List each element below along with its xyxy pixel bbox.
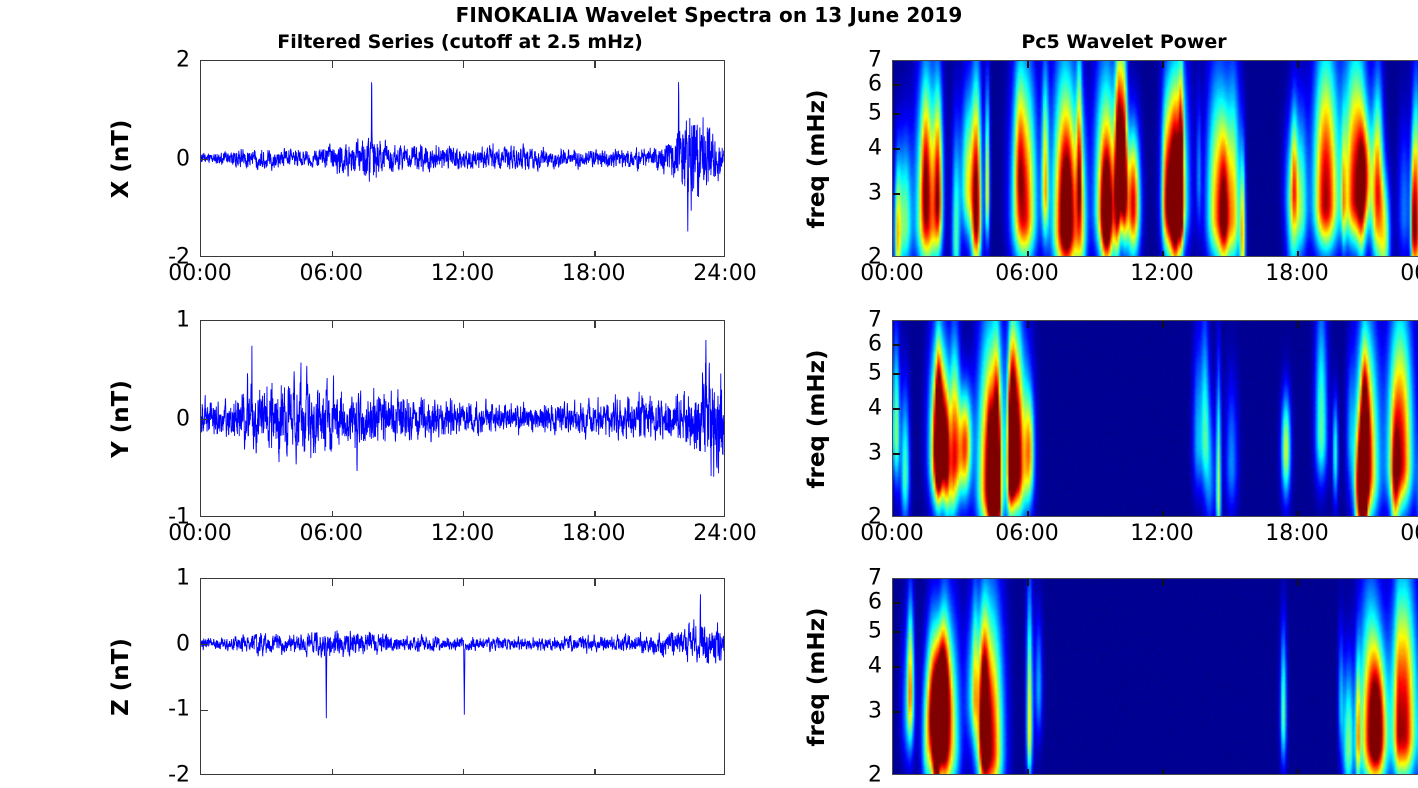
ttick-label-y-0: 00:00 — [860, 521, 923, 546]
xtick-y-18 — [594, 511, 596, 517]
ylabel-z-series: Z (nT) — [108, 638, 134, 716]
ttick-label-y-3: 18:00 — [1265, 521, 1328, 546]
ytick-label-x-2: 2 — [140, 48, 190, 73]
ylabel-y-series: Y (nT) — [108, 380, 134, 458]
ftick-y-5 — [893, 373, 900, 375]
ttick-x-12 — [1162, 251, 1164, 257]
ytick-label-y-1: 1 — [140, 308, 190, 333]
ytick-label-z--1: -1 — [140, 697, 190, 722]
ylabel-z-spectrogram: freq (mHz) — [804, 607, 830, 746]
ftick-x-4 — [893, 148, 900, 150]
xtick-z-12 — [463, 769, 465, 775]
ftick-label-y-6: 6 — [834, 332, 882, 357]
ftick-label-z-4: 4 — [834, 654, 882, 679]
xtick-x-18 — [594, 251, 596, 257]
axes-x-spectrogram — [892, 60, 1418, 257]
xtick-label-y-0: 00:00 — [168, 521, 231, 546]
ytick-z--1 — [201, 710, 208, 712]
axes-x-series — [200, 60, 725, 257]
ftick-z-3 — [893, 711, 900, 713]
ftick-label-x-7: 7 — [834, 48, 882, 73]
xtick-top-z-18 — [594, 579, 596, 586]
ftick-label-z-5: 5 — [834, 618, 882, 643]
xtick-z-18 — [594, 769, 596, 775]
figure-canvas: FINOKALIA Wavelet Spectra on 13 June 201… — [0, 0, 1418, 788]
ttick-top-z-6 — [1027, 579, 1029, 586]
xtick-label-x-0: 00:00 — [168, 261, 231, 286]
xtick-y-12 — [463, 511, 465, 517]
ftick-label-x-5: 5 — [834, 100, 882, 125]
ftick-y-3 — [893, 453, 900, 455]
axes-y-spectrogram — [892, 320, 1418, 517]
xtick-top-y-12 — [463, 321, 465, 328]
ftick-label-z-3: 3 — [834, 699, 882, 724]
ytick-label-z-0: 0 — [140, 631, 190, 656]
ftick-y-4 — [893, 408, 900, 410]
ttick-label-x-0: 00:00 — [860, 261, 923, 286]
ttick-label-x-4: 00:00 — [1400, 261, 1418, 286]
ftick-x-6 — [893, 84, 900, 86]
ttick-top-z-18 — [1297, 579, 1299, 586]
xtick-label-x-4: 24:00 — [693, 261, 756, 286]
timeseries-trace-z — [201, 579, 724, 774]
ftick-x-5 — [893, 113, 900, 115]
xtick-x-6 — [332, 251, 334, 257]
ttick-z-18 — [1297, 769, 1299, 775]
ttick-label-y-1: 06:00 — [995, 521, 1058, 546]
ftick-label-x-3: 3 — [834, 181, 882, 206]
xtick-x-12 — [463, 251, 465, 257]
timeseries-trace-x — [201, 61, 724, 256]
xtick-label-x-1: 06:00 — [300, 261, 363, 286]
ttick-label-x-3: 18:00 — [1265, 261, 1328, 286]
xtick-top-z-12 — [463, 579, 465, 586]
ytick-label-x-0: 0 — [140, 146, 190, 171]
ftick-z-6 — [893, 602, 900, 604]
ttick-top-y-12 — [1162, 321, 1164, 328]
ytick-label-z-1: 1 — [140, 566, 190, 591]
ftick-z-4 — [893, 666, 900, 668]
ytick-label-z--2: -2 — [140, 763, 190, 788]
xtick-label-y-3: 18:00 — [562, 521, 625, 546]
ttick-top-x-6 — [1027, 61, 1029, 68]
xtick-label-x-2: 12:00 — [431, 261, 494, 286]
ytick-z-0 — [201, 644, 208, 646]
ttick-top-z-12 — [1162, 579, 1164, 586]
ttick-label-x-2: 12:00 — [1130, 261, 1193, 286]
left-column-title: Filtered Series (cutoff at 2.5 mHz) — [120, 31, 800, 53]
ytick-y-0 — [201, 419, 208, 421]
ttick-top-y-6 — [1027, 321, 1029, 328]
ttick-top-x-18 — [1297, 61, 1299, 68]
ttick-y-18 — [1297, 511, 1299, 517]
wavelet-power-image-z — [893, 579, 1418, 774]
xtick-label-y-4: 24:00 — [693, 521, 756, 546]
ttick-z-12 — [1162, 769, 1164, 775]
ttick-x-6 — [1027, 251, 1029, 257]
xtick-label-y-1: 06:00 — [300, 521, 363, 546]
xtick-top-y-6 — [332, 321, 334, 328]
ftick-label-z-6: 6 — [834, 590, 882, 615]
ytick-x-0 — [201, 159, 208, 161]
ttick-label-y-4: 00:00 — [1400, 521, 1418, 546]
ytick-label-y-0: 0 — [140, 406, 190, 431]
axes-z-series — [200, 578, 725, 775]
ftick-label-z-2: 2 — [834, 763, 882, 788]
xtick-z-6 — [332, 769, 334, 775]
xtick-label-x-3: 18:00 — [562, 261, 625, 286]
ftick-label-y-7: 7 — [834, 308, 882, 333]
ttick-label-y-2: 12:00 — [1130, 521, 1193, 546]
ylabel-y-spectrogram: freq (mHz) — [804, 349, 830, 488]
wavelet-power-image-x — [893, 61, 1418, 256]
ftick-x-3 — [893, 193, 900, 195]
xtick-top-x-12 — [463, 61, 465, 68]
xtick-label-y-2: 12:00 — [431, 521, 494, 546]
ftick-label-x-4: 4 — [834, 136, 882, 161]
ttick-label-x-1: 06:00 — [995, 261, 1058, 286]
ftick-label-y-4: 4 — [834, 396, 882, 421]
ttick-top-y-18 — [1297, 321, 1299, 328]
ylabel-x-spectrogram: freq (mHz) — [804, 89, 830, 228]
wavelet-power-image-y — [893, 321, 1418, 516]
figure-suptitle: FINOKALIA Wavelet Spectra on 13 June 201… — [0, 3, 1418, 27]
ttick-y-12 — [1162, 511, 1164, 517]
ftick-label-y-5: 5 — [834, 360, 882, 385]
ftick-y-6 — [893, 344, 900, 346]
ftick-z-5 — [893, 631, 900, 633]
xtick-top-x-18 — [594, 61, 596, 68]
ttick-y-6 — [1027, 511, 1029, 517]
xtick-top-z-6 — [332, 579, 334, 586]
ylabel-x-series: X (nT) — [108, 119, 134, 198]
ttick-x-18 — [1297, 251, 1299, 257]
timeseries-trace-y — [201, 321, 724, 516]
xtick-top-y-18 — [594, 321, 596, 328]
ftick-label-x-6: 6 — [834, 72, 882, 97]
ftick-label-z-7: 7 — [834, 566, 882, 591]
xtick-top-x-6 — [332, 61, 334, 68]
right-column-title: Pc5 Wavelet Power — [830, 31, 1418, 53]
xtick-y-6 — [332, 511, 334, 517]
axes-y-series — [200, 320, 725, 517]
ttick-top-x-12 — [1162, 61, 1164, 68]
axes-z-spectrogram — [892, 578, 1418, 775]
ftick-label-y-3: 3 — [834, 441, 882, 466]
ttick-z-6 — [1027, 769, 1029, 775]
